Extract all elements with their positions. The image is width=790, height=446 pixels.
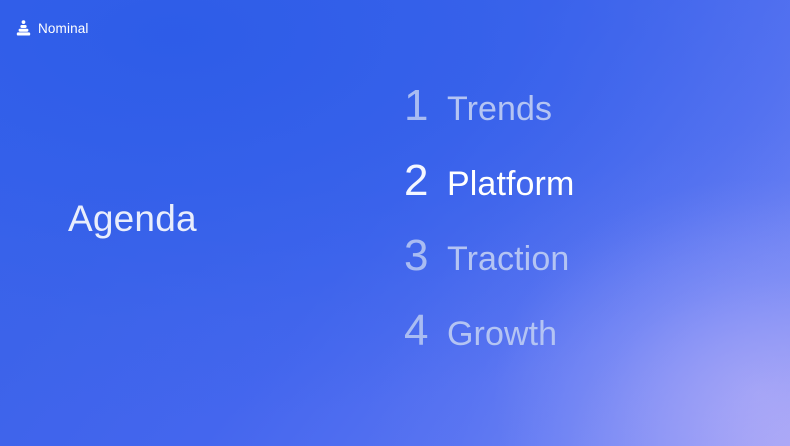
stacked-tiers-logo-icon <box>16 20 31 37</box>
agenda-item-label: Traction <box>447 242 569 276</box>
agenda-item-traction[interactable]: 3 Traction <box>404 234 574 289</box>
brand-lockup[interactable]: Nominal <box>16 20 89 37</box>
agenda-item-label: Platform <box>447 167 574 201</box>
agenda-item-label: Growth <box>447 317 557 351</box>
agenda-item-number: 4 <box>404 309 432 353</box>
agenda-item-number: 2 <box>404 159 432 203</box>
agenda-item-number: 3 <box>404 234 432 278</box>
agenda-item-number: 1 <box>404 84 432 128</box>
agenda-item-trends[interactable]: 1 Trends <box>404 84 574 139</box>
agenda-item-growth[interactable]: 4 Growth <box>404 309 574 364</box>
brand-name: Nominal <box>38 22 89 36</box>
agenda-slide: Nominal Agenda 1 Trends 2 Platform 3 Tra… <box>0 0 790 446</box>
agenda-item-label: Trends <box>447 92 552 126</box>
agenda-list: 1 Trends 2 Platform 3 Traction 4 Growth <box>404 84 574 364</box>
page-title: Agenda <box>68 200 197 237</box>
agenda-item-platform[interactable]: 2 Platform <box>404 159 574 214</box>
